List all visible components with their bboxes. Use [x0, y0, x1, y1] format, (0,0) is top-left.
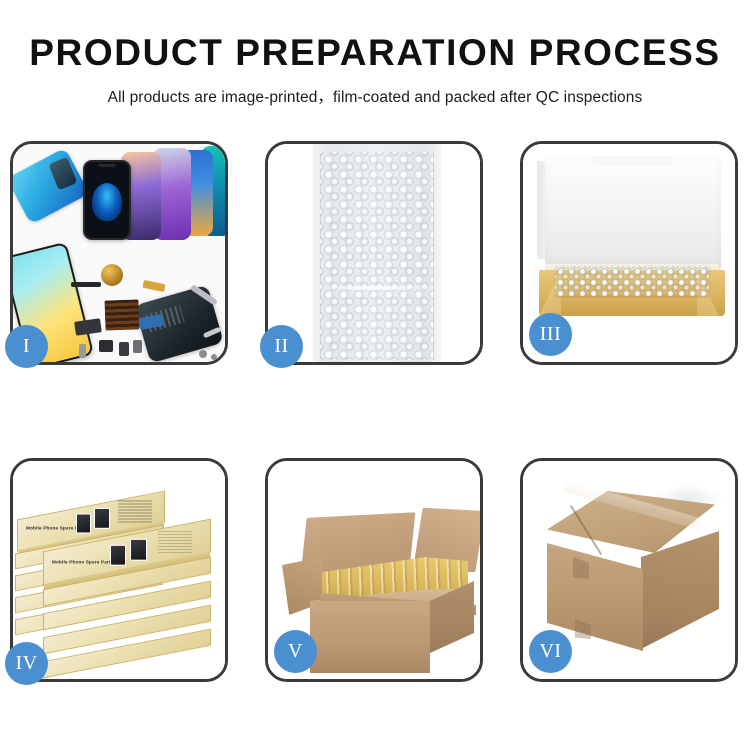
wrap-seam — [313, 286, 441, 290]
step-badge-4: IV — [5, 642, 48, 685]
step-badge-6: VI — [529, 630, 572, 673]
box-phone-graphic — [94, 508, 110, 529]
box-phone-graphic — [110, 545, 126, 566]
phone-parts-illustration — [13, 144, 225, 362]
wallpaper-graphic — [92, 183, 122, 221]
step-image-2 — [268, 144, 480, 362]
box-lid-notch — [593, 156, 673, 166]
chip-grid-icon — [104, 299, 139, 330]
stacked-boxes-illustration: Mobile Phone Spare Parts Mobile Phone Sp… — [13, 461, 225, 679]
step-panel-4: Mobile Phone Spare Parts Mobile Phone Sp… — [10, 458, 228, 682]
phone-notch-icon — [98, 164, 116, 167]
step-panel-2: II — [265, 141, 483, 365]
battery-connector-icon — [119, 342, 129, 356]
box-lid-back — [545, 158, 721, 270]
step-panel-6: VI — [520, 458, 738, 682]
gold-connector-icon — [142, 280, 165, 292]
step-panel-1: I — [10, 141, 228, 365]
step-panel-3: III — [520, 141, 738, 365]
step-badge-3: III — [529, 313, 572, 356]
bubble-wrap-texture — [320, 152, 432, 360]
header: PRODUCT PREPARATION PROCESS All products… — [0, 0, 750, 107]
box-phone-graphic — [76, 513, 91, 533]
box-spec-text — [118, 500, 152, 522]
screw-icon — [199, 350, 207, 358]
speaker-coil-icon — [101, 264, 123, 286]
black-screen-icon — [83, 160, 131, 240]
step-image-1 — [13, 144, 225, 362]
product-preparation-infographic: PRODUCT PREPARATION PROCESS All products… — [0, 0, 750, 750]
screw-icon — [211, 354, 217, 360]
page-title: PRODUCT PREPARATION PROCESS — [0, 34, 750, 73]
step-image-4: Mobile Phone Spare Parts Mobile Phone Sp… — [13, 461, 225, 679]
bubble-wrapped-product — [555, 266, 709, 296]
sim-tray-icon — [79, 344, 86, 358]
blue-phone-icon — [13, 148, 89, 225]
page-subtitle: All products are image-printed，film-coat… — [0, 85, 750, 107]
step-panel-5: V — [265, 458, 483, 682]
step-badge-5: V — [274, 630, 317, 673]
small-part-icon — [133, 340, 142, 353]
steps-grid: I II — [10, 141, 740, 682]
carton-front-face — [310, 601, 430, 673]
flex-cable-icon — [71, 282, 101, 287]
box-spec-text — [158, 531, 192, 553]
flex-cable-icon — [74, 318, 102, 335]
box-phone-graphic — [130, 539, 147, 561]
box-label: Mobile Phone Spare Parts — [52, 560, 113, 565]
bubble-wrap-illustration — [268, 144, 480, 362]
step-badge-2: II — [260, 325, 303, 368]
camera-module-icon — [99, 340, 113, 352]
step-badge-1: I — [5, 325, 48, 368]
